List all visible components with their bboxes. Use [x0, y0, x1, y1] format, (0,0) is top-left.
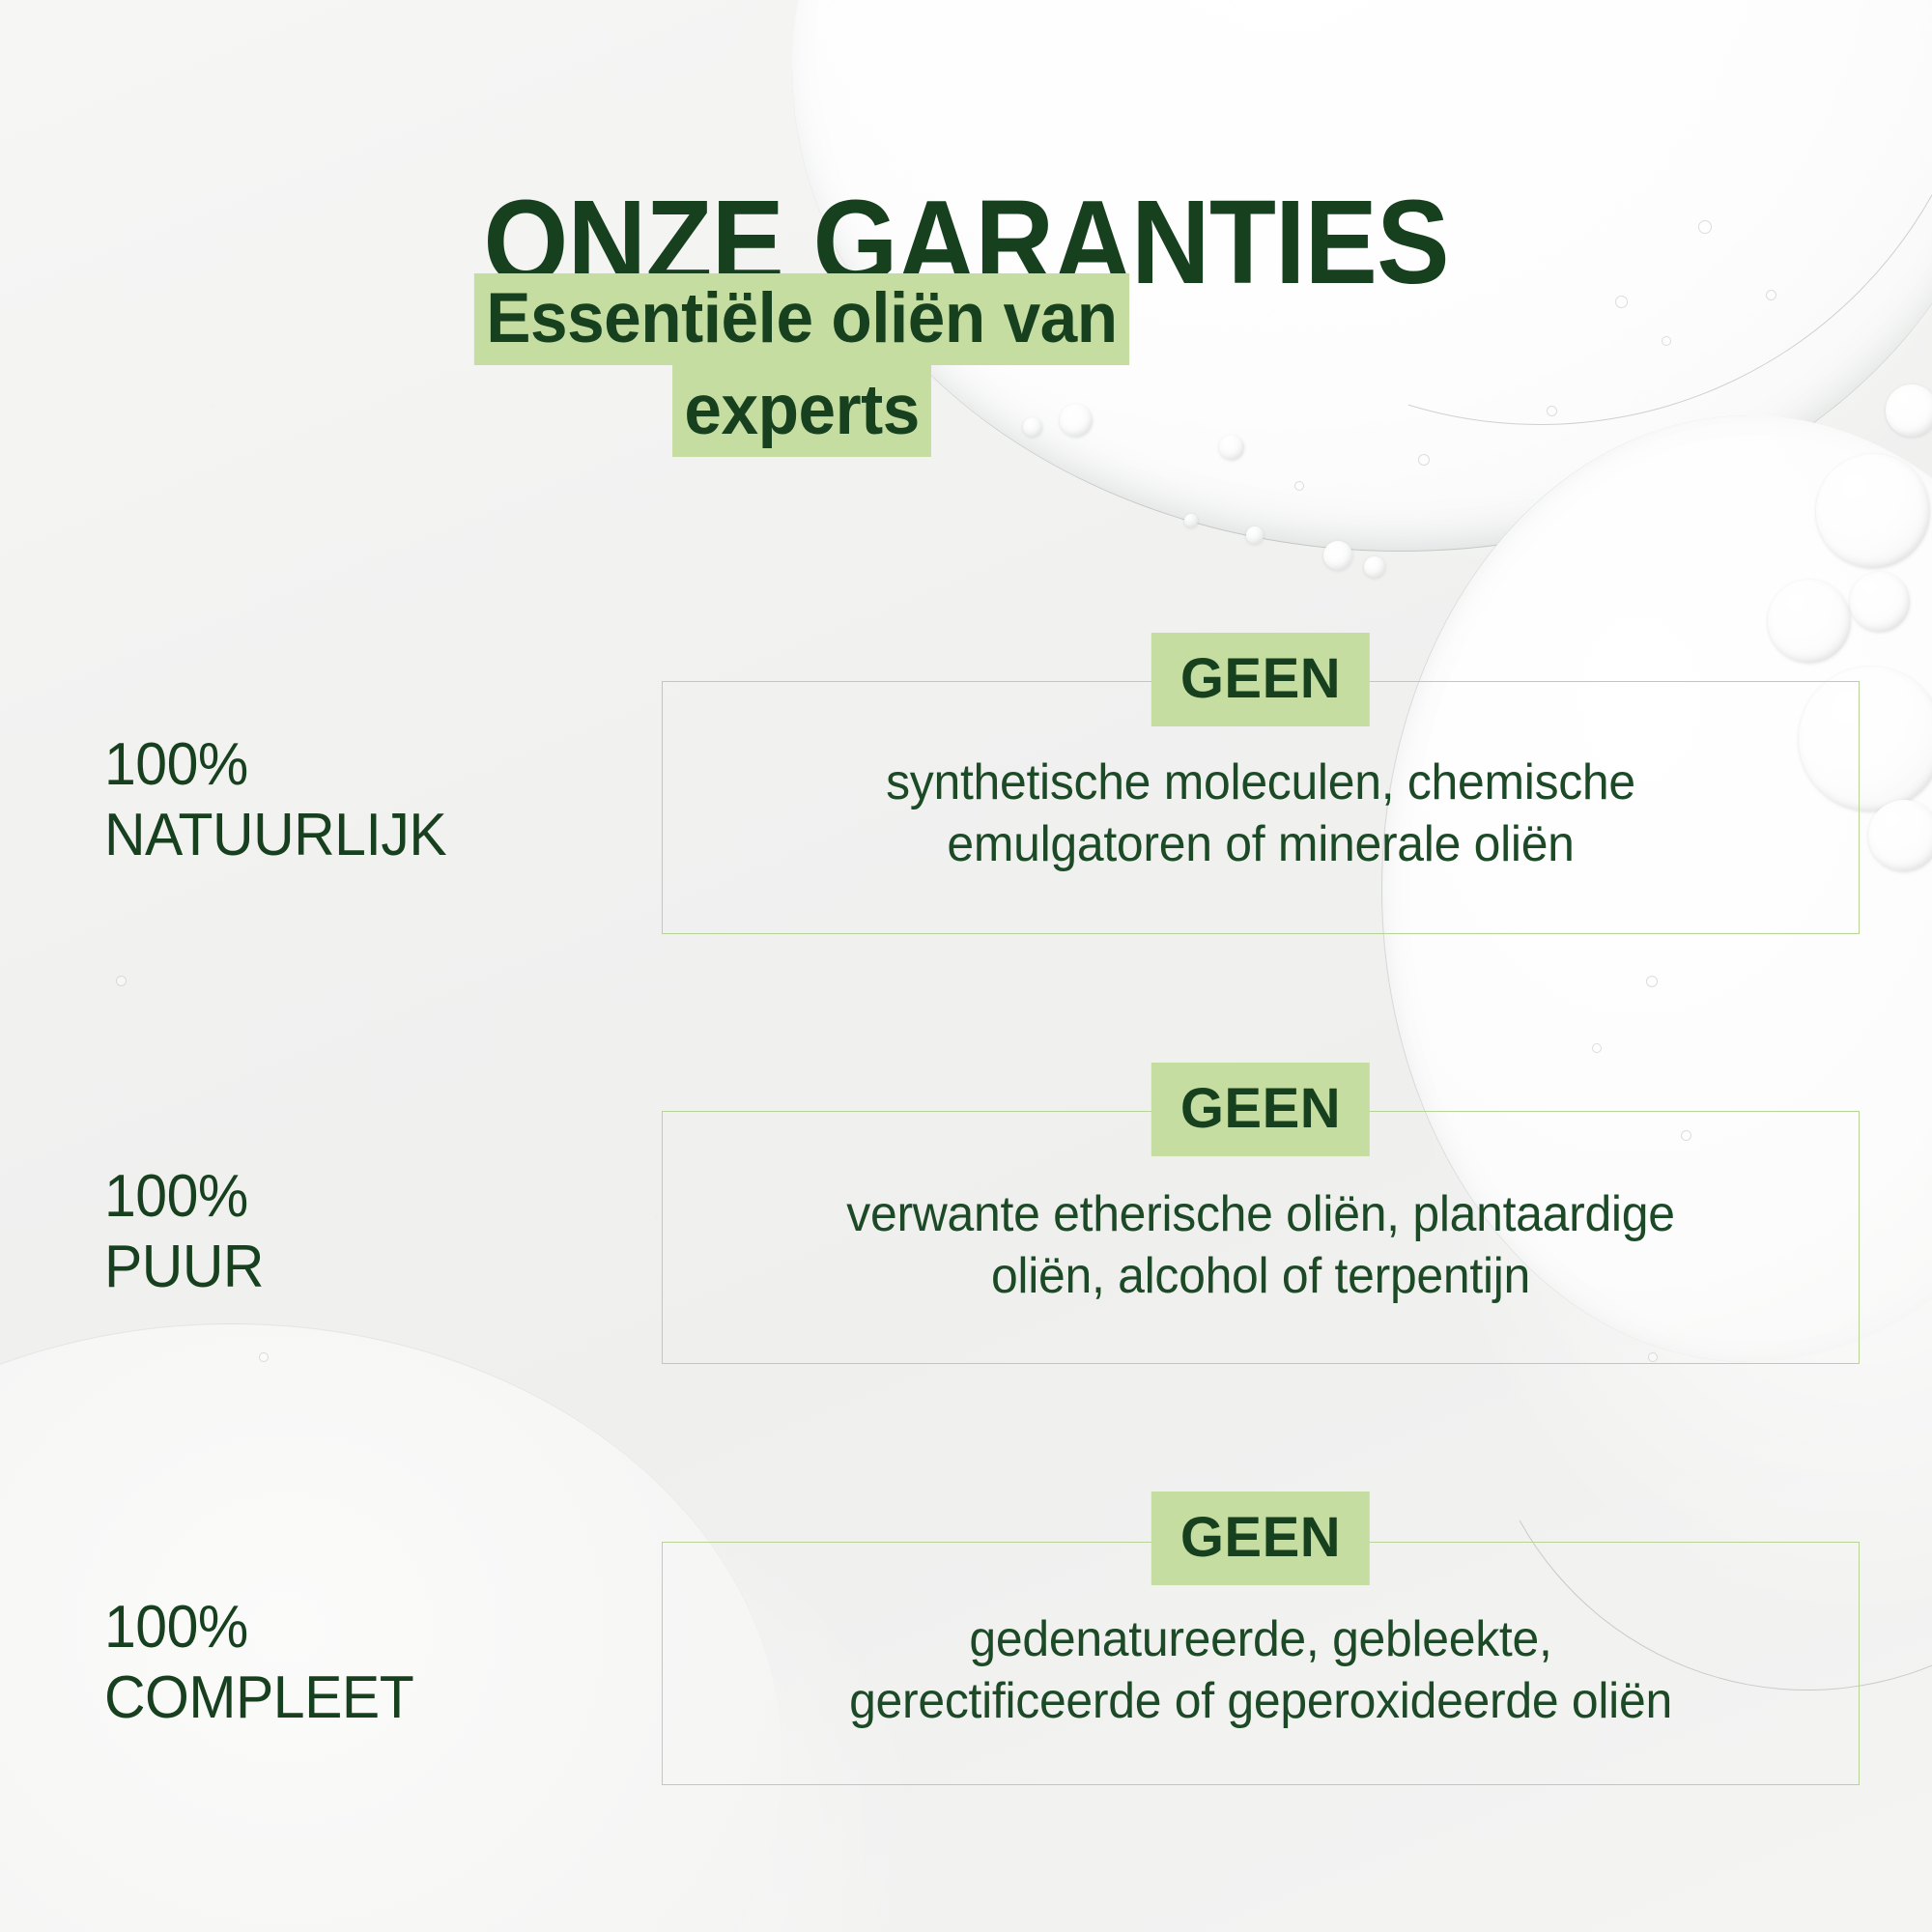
subtitle-line-1: Essentiële oliën van — [319, 273, 1285, 365]
subtitle-highlight-2: experts — [672, 365, 931, 457]
guarantee-body-line: synthetische moleculen, chemische — [716, 752, 1804, 813]
guarantee-body-line: verwante etherische oliën, plantaardige — [716, 1183, 1804, 1245]
subtitle-line-2: experts — [319, 365, 1285, 457]
status-badge: GEEN — [1151, 1063, 1370, 1156]
guarantee-label: 100% NATUURLIJK — [104, 729, 582, 870]
poster-canvas: ONZE GARANTIES Essentiële oliën van expe… — [0, 0, 1932, 1932]
guarantee-body-line: emulgatoren of minerale oliën — [716, 813, 1804, 875]
status-badge: GEEN — [1151, 1492, 1370, 1585]
guarantee-label: 100% COMPLEET — [104, 1592, 582, 1733]
guarantee-body-line: oliën, alcohol of terpentijn — [716, 1245, 1804, 1307]
status-badge: GEEN — [1151, 633, 1370, 726]
guarantee-body-line: gerectificeerde of geperoxideerde oliën — [716, 1670, 1804, 1732]
guarantee-card: GEEN gedenatureerde, gebleekte, gerectif… — [662, 1542, 1860, 1785]
guarantee-card: GEEN verwante etherische oliën, plantaar… — [662, 1111, 1860, 1364]
guarantee-body-text: gedenatureerde, gebleekte, gerectificeer… — [716, 1608, 1804, 1733]
subtitle-highlight-1: Essentiële oliën van — [474, 273, 1129, 365]
guarantee-body-text: verwante etherische oliën, plantaardige … — [716, 1183, 1804, 1308]
guarantee-body-line: gedenatureerde, gebleekte, — [716, 1608, 1804, 1670]
guarantee-card: GEEN synthetische moleculen, chemische e… — [662, 681, 1860, 934]
page-subtitle: Essentiële oliën van experts — [319, 273, 1285, 457]
guarantee-label: 100% PUUR — [104, 1161, 582, 1302]
guarantee-body-text: synthetische moleculen, chemische emulga… — [716, 752, 1804, 876]
